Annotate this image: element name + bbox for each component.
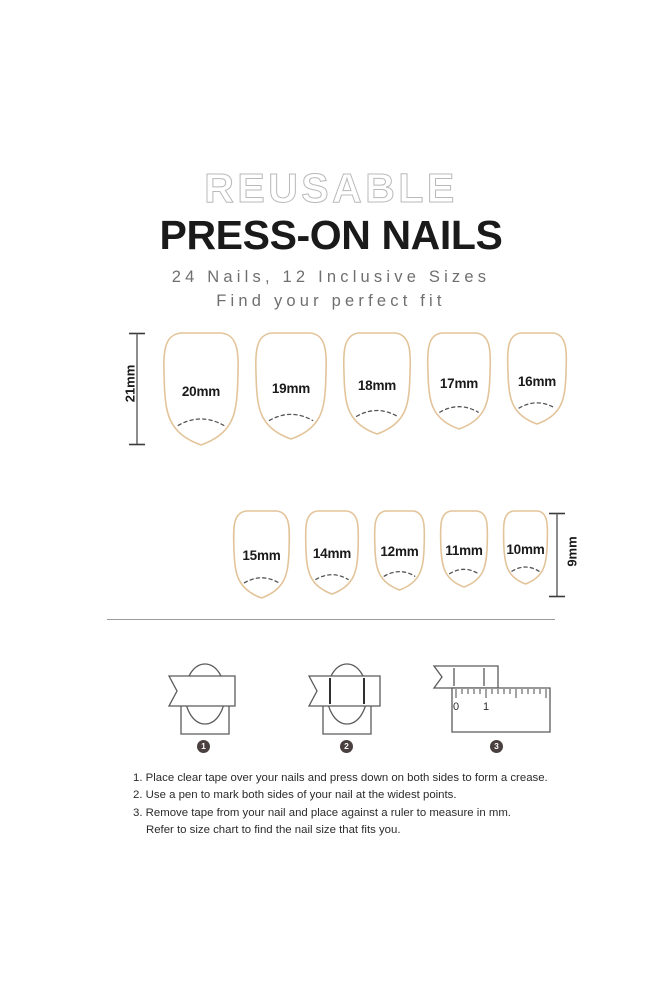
step-3-badge: 3 — [490, 740, 503, 753]
instruction-step-2: 2. Use a pen to mark both sides of your … — [133, 787, 573, 804]
measuring-steps: 1 2 — [0, 648, 662, 758]
instructions-list: 1. Place clear tape over your nails and … — [133, 770, 573, 840]
page-title: PRESS-ON NAILS — [0, 214, 662, 257]
pen-marks-on-tape-icon — [292, 648, 402, 738]
nail-size-label: 17mm — [424, 376, 494, 391]
nail-size-20mm[interactable]: 20mm — [160, 330, 242, 448]
nail-size-10mm[interactable]: 10mm — [500, 508, 551, 587]
nail-size-12mm[interactable]: 12mm — [371, 508, 428, 593]
nail-size-label: 20mm — [160, 384, 242, 399]
nail-size-label: 16mm — [504, 374, 570, 389]
step-1-diagram: 1 — [155, 648, 255, 738]
width-measure-bracket: 9mm — [548, 512, 566, 603]
nail-size-label: 15mm — [230, 548, 293, 563]
subtitle-secondary: Find your perfect fit — [0, 291, 662, 312]
nail-size-chart-page: REUSABLE PRESS-ON NAILS 24 Nails, 12 Inc… — [0, 0, 662, 994]
page-header: REUSABLE PRESS-ON NAILS 24 Nails, 12 Inc… — [0, 168, 662, 313]
instruction-step-3-continued: Refer to size chart to find the nail siz… — [133, 822, 573, 839]
step-1-badge: 1 — [197, 740, 210, 753]
step-2-diagram: 2 — [292, 648, 402, 738]
nail-size-15mm[interactable]: 15mm — [230, 508, 293, 601]
nail-size-label: 11mm — [437, 543, 491, 558]
instruction-step-1: 1. Place clear tape over your nails and … — [133, 770, 573, 787]
subtitle-primary: 24 Nails, 12 Inclusive Sizes — [0, 267, 662, 288]
measure-with-ruler-icon: 0 1 — [428, 648, 556, 738]
step-2-badge: 2 — [340, 740, 353, 753]
outline-title: REUSABLE — [0, 168, 662, 209]
nail-size-19mm[interactable]: 19mm — [252, 330, 330, 442]
nail-size-16mm[interactable]: 16mm — [504, 330, 570, 427]
nail-size-label: 10mm — [500, 542, 551, 557]
ruler-tick-1: 1 — [483, 701, 489, 713]
tape-over-nail-icon — [155, 648, 255, 738]
width-measure-label: 9mm — [565, 536, 580, 566]
height-measure-bracket: 21mm — [128, 332, 146, 451]
nail-size-14mm[interactable]: 14mm — [302, 508, 362, 597]
nail-size-11mm[interactable]: 11mm — [437, 508, 491, 590]
nail-size-label: 18mm — [340, 378, 414, 393]
instruction-step-3: 3. Remove tape from your nail and place … — [133, 805, 573, 822]
nail-size-17mm[interactable]: 17mm — [424, 330, 494, 432]
nail-size-label: 14mm — [302, 546, 362, 561]
nail-size-row-small: 15mm14mm12mm11mm10mm — [230, 508, 551, 601]
bracket-9mm-icon — [548, 512, 566, 598]
height-measure-label: 21mm — [122, 365, 137, 403]
section-divider — [107, 619, 555, 620]
nail-size-label: 12mm — [371, 544, 428, 559]
nail-size-row-large: 20mm19mm18mm17mm16mm — [160, 330, 570, 448]
step-3-diagram: 0 1 3 — [428, 648, 556, 738]
ruler-tick-0: 0 — [453, 701, 459, 713]
nail-size-label: 19mm — [252, 381, 330, 396]
nail-size-18mm[interactable]: 18mm — [340, 330, 414, 437]
